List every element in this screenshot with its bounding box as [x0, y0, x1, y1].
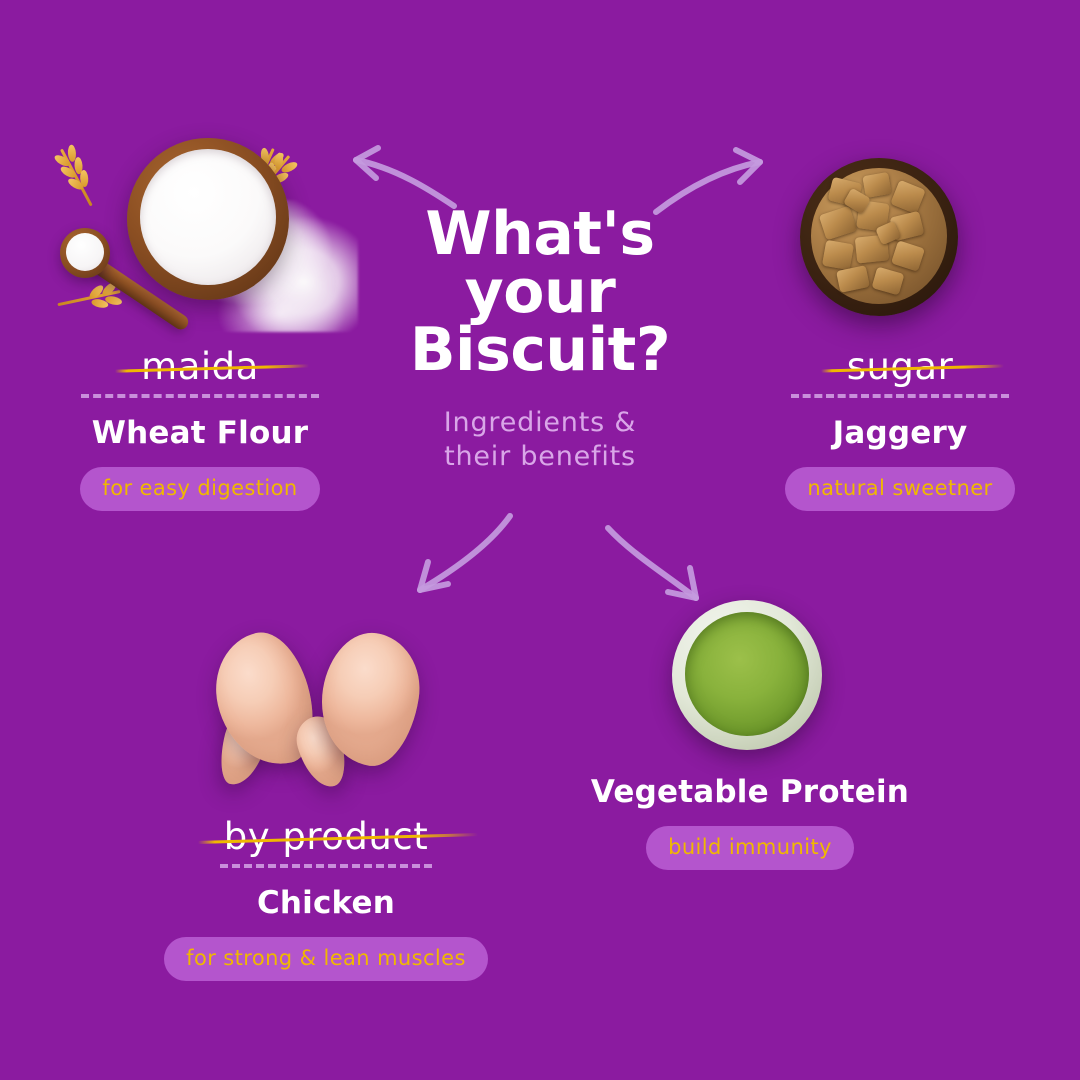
dashed-divider [81, 394, 319, 398]
subtitle-line-1: Ingredients & [390, 406, 690, 441]
title-line-2: your [390, 263, 690, 321]
ingredient-name-jaggery: Jaggery [745, 416, 1055, 450]
ingredient-card-jaggery: sugar Jaggery natural sweetner [745, 348, 1055, 511]
benefit-badge-chicken: for strong & lean muscles [164, 937, 488, 981]
subtitle-line-2: their benefits [390, 440, 690, 475]
center-heading-block: What's your Biscuit? Ingredients & their… [390, 205, 690, 475]
benefit-badge-wheat-flour: for easy digestion [80, 467, 319, 511]
bowl-of-green-powder [672, 600, 822, 750]
ingredient-card-wheat-flour: maida Wheat Flour for easy digestion [45, 348, 355, 511]
poster-canvas: What's your Biscuit? Ingredients & their… [0, 0, 1080, 1080]
page-title: What's your Biscuit? [390, 205, 690, 380]
title-line-1: What's [390, 205, 690, 263]
ingredient-card-chicken: by product Chicken for strong & lean mus… [150, 818, 502, 981]
page-subtitle: Ingredients & their benefits [390, 406, 690, 475]
title-line-3: Biscuit? [390, 321, 690, 379]
dashed-divider [220, 864, 432, 868]
dashed-divider [791, 394, 1009, 398]
benefit-badge-jaggery: natural sweetner [785, 467, 1014, 511]
arrow-to-chicken [398, 508, 530, 610]
arrow-to-vegetable-protein [598, 518, 724, 614]
ingredient-name-chicken: Chicken [150, 886, 502, 920]
benefit-badge-vegetable-protein: build immunity [646, 826, 854, 870]
ingredient-name-vegetable-protein: Vegetable Protein [572, 775, 928, 809]
wooden-bowl-of-flour [127, 138, 289, 300]
ingredient-name-wheat-flour: Wheat Flour [45, 416, 355, 450]
struck-word-wrapper: by product [208, 818, 444, 855]
struck-word-wrapper: sugar [831, 348, 970, 385]
wooden-spoon-scoop [60, 228, 110, 278]
wooden-bowl-of-jaggery [800, 158, 958, 316]
ingredient-card-vegetable-protein: Vegetable Protein build immunity [572, 775, 928, 870]
struck-word-wrapper: maida [125, 348, 275, 385]
